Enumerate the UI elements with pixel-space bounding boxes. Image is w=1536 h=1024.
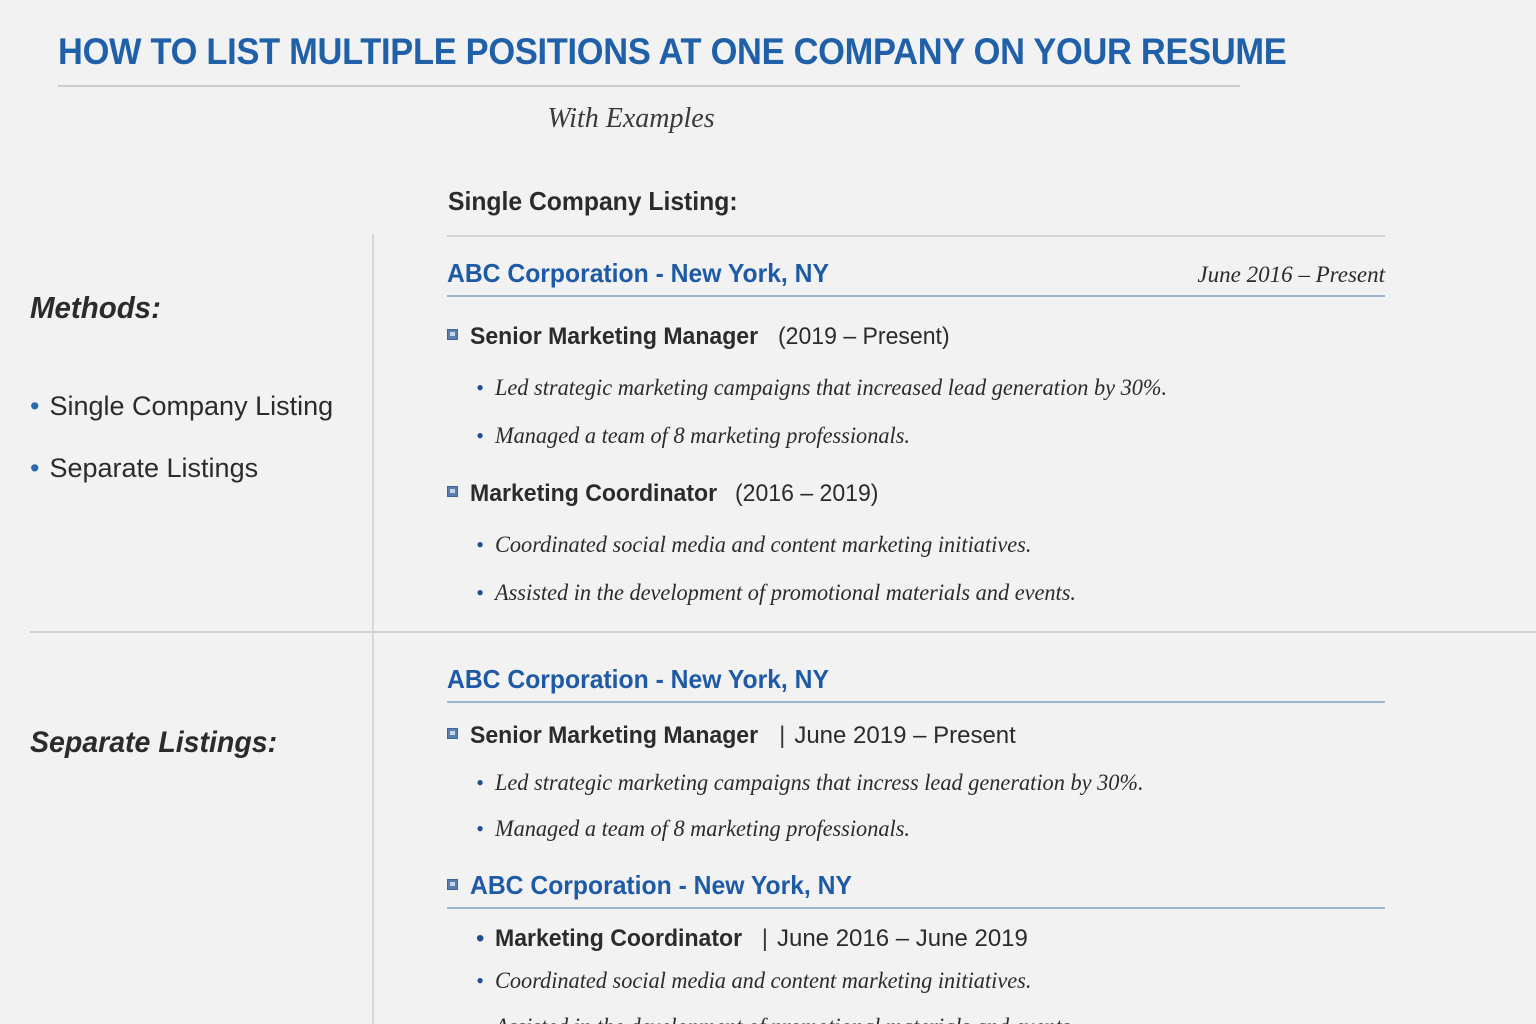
list-item: • Assisted in the development of promoti… <box>476 1014 1094 1024</box>
bullet-text: Managed a team of 8 marketing profession… <box>495 423 910 449</box>
bullet-text: Assisted in the development of promotion… <box>495 1014 1076 1024</box>
method-label: Separate Listings <box>49 437 258 499</box>
job-title-row: • Marketing Coordinator | June 2016 – Ju… <box>476 925 1028 953</box>
separator: | <box>762 925 768 953</box>
methods-list: • Single Company Listing • Separate List… <box>30 375 360 499</box>
bullet-text: Managed a team of 8 marketing profession… <box>495 816 910 842</box>
section-2-company-b-block: ABC Corporation - New York, NY <box>447 870 1385 909</box>
separate-listings-heading: Separate Listings: <box>30 726 277 760</box>
round-bullet-icon: • <box>476 425 484 447</box>
section-divider-horizontal <box>30 631 1536 633</box>
list-item: • Managed a team of 8 marketing professi… <box>476 423 1188 449</box>
job-title-row: Marketing Coordinator (2016 – 2019) <box>447 480 885 508</box>
round-bullet-icon: • <box>476 1016 484 1024</box>
square-bullet-icon <box>447 728 458 739</box>
separator: | <box>779 722 785 750</box>
job-dates: (2019 – Present) <box>778 323 950 351</box>
company-name: ABC Corporation - New York, NY <box>470 870 852 901</box>
job-title: Senior Marketing Manager <box>470 323 758 351</box>
section-1-job-1-bullets: • Led strategic marketing campaigns that… <box>476 375 1188 449</box>
round-bullet-icon: • <box>30 455 39 482</box>
list-item: • Assisted in the development of promoti… <box>476 580 1094 606</box>
section-2-job-a-bullets: • Led strategic marketing campaigns that… <box>476 770 1163 842</box>
column-divider-vertical <box>372 234 374 1024</box>
section-1-company-block: ABC Corporation - New York, NY June 2016… <box>447 258 1385 297</box>
list-item: • Separate Listings <box>30 437 360 499</box>
round-bullet-icon: • <box>476 534 484 556</box>
bullet-text: Coordinated social media and content mar… <box>495 532 1031 558</box>
round-bullet-icon: • <box>476 377 484 399</box>
job-title-row: Senior Marketing Manager | June 2019 – P… <box>447 722 1016 750</box>
square-bullet-icon <box>447 486 458 497</box>
section-2-job-b-bullets: • Coordinated social media and content m… <box>476 968 1094 1024</box>
company-header-row: ABC Corporation - New York, NY <box>447 664 1385 703</box>
section-1-job-2-bullets: • Coordinated social media and content m… <box>476 532 1094 606</box>
round-bullet-icon: • <box>30 393 39 420</box>
round-bullet-icon: • <box>476 582 484 604</box>
round-bullet-icon: • <box>476 818 484 840</box>
job-title: Marketing Coordinator <box>470 480 717 508</box>
job-title: Marketing Coordinator <box>495 925 742 953</box>
company-dates: June 2016 – Present <box>1197 262 1385 288</box>
section-2-job-b: • Marketing Coordinator | June 2016 – Ju… <box>476 925 1028 953</box>
list-item: • Led strategic marketing campaigns that… <box>476 770 1163 796</box>
list-item: • Single Company Listing <box>30 375 360 437</box>
job-dates: June 2019 – Present <box>794 722 1016 750</box>
job-title: Senior Marketing Manager <box>470 722 758 750</box>
bullet-text: Led strategic marketing campaigns that i… <box>495 375 1167 401</box>
methods-heading: Methods: <box>30 290 161 326</box>
company-header-row: ABC Corporation - New York, NY June 2016… <box>447 258 1385 297</box>
bullet-text: Assisted in the development of promotion… <box>495 580 1076 606</box>
company-name: ABC Corporation - New York, NY <box>447 664 829 695</box>
round-bullet-icon: • <box>476 970 484 992</box>
bullet-text: Coordinated social media and content mar… <box>495 968 1031 994</box>
page-title: HOW TO LIST MULTIPLE POSITIONS AT ONE CO… <box>58 29 1174 75</box>
job-dates: (2016 – 2019) <box>735 480 878 508</box>
method-label: Single Company Listing <box>49 375 333 437</box>
list-item: • Coordinated social media and content m… <box>476 968 1094 994</box>
job-dates: June 2016 – June 2019 <box>777 925 1028 953</box>
round-bullet-icon: • <box>476 927 484 951</box>
square-bullet-icon <box>447 879 458 890</box>
job-title-row: Senior Marketing Manager (2019 – Present… <box>447 323 957 351</box>
list-item: • Led strategic marketing campaigns that… <box>476 375 1188 401</box>
section-1-heading-divider <box>447 235 1385 237</box>
list-item: • Managed a team of 8 marketing professi… <box>476 816 1163 842</box>
company-header-row: ABC Corporation - New York, NY <box>447 870 1385 909</box>
title-divider <box>58 85 1240 87</box>
section-1-job-2: Marketing Coordinator (2016 – 2019) <box>447 480 885 508</box>
list-item: • Coordinated social media and content m… <box>476 532 1094 558</box>
company-name: ABC Corporation - New York, NY <box>447 258 829 289</box>
section-1-heading: Single Company Listing: <box>448 186 738 217</box>
page-subtitle: With Examples <box>0 103 1262 135</box>
bullet-text: Led strategic marketing campaigns that i… <box>495 770 1144 796</box>
slide-canvas: HOW TO LIST MULTIPLE POSITIONS AT ONE CO… <box>0 0 1536 1024</box>
round-bullet-icon: • <box>476 772 484 794</box>
section-2-job-a: Senior Marketing Manager | June 2019 – P… <box>447 722 1016 750</box>
square-bullet-icon <box>447 329 458 340</box>
section-2-company-a-block: ABC Corporation - New York, NY <box>447 664 1385 703</box>
section-1-job-1: Senior Marketing Manager (2019 – Present… <box>447 323 957 351</box>
